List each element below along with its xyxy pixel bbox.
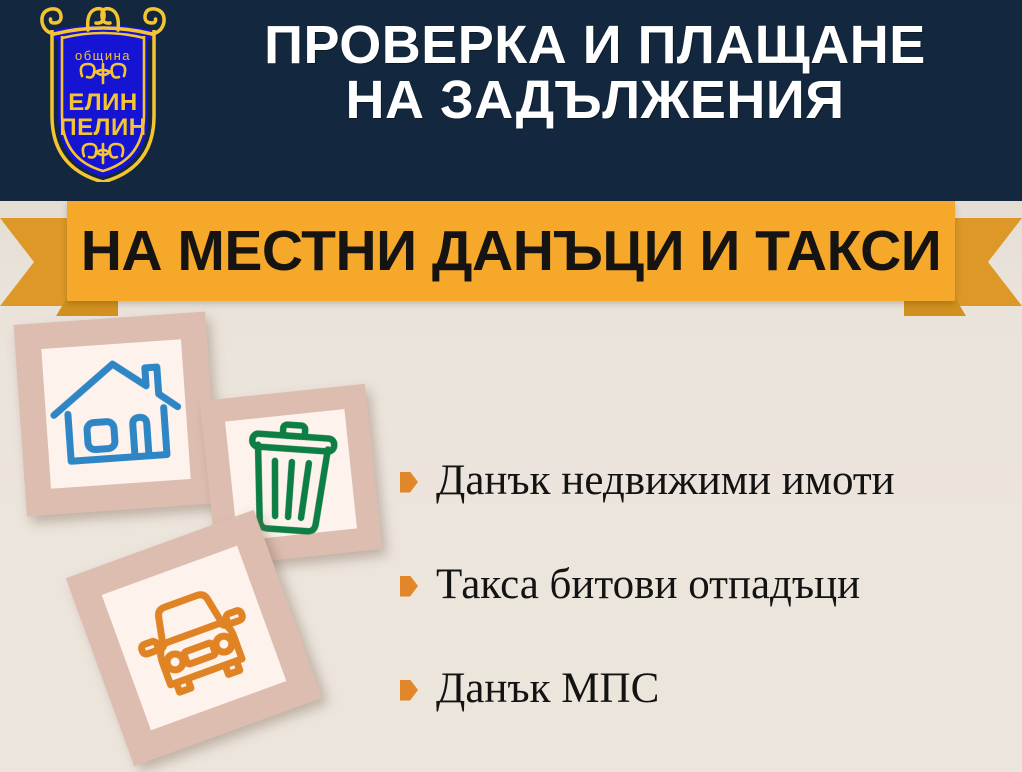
arrow-bullet-icon bbox=[400, 576, 418, 597]
logo-name-line-1: ЕЛИН bbox=[68, 89, 137, 116]
title-line-1: ПРОВЕРКА И ПЛАЩАНЕ bbox=[180, 18, 1010, 73]
list-item-label: Данък недвижими имоти bbox=[436, 459, 895, 502]
list-item-label: Данък МПС bbox=[436, 667, 659, 710]
municipality-logo: община ЕЛИН ПЕЛИН bbox=[38, 4, 168, 182]
ribbon-label: НА МЕСТНИ ДАНЪЦИ И ТАКСИ bbox=[67, 201, 955, 301]
ribbon-banner: НА МЕСТНИ ДАНЪЦИ И ТАКСИ bbox=[0, 196, 1022, 316]
logo-name-line-2: ПЕЛИН bbox=[59, 114, 146, 141]
arrow-bullet-icon bbox=[400, 680, 418, 701]
coat-of-arms-icon: община ЕЛИН ПЕЛИН bbox=[38, 4, 168, 182]
list-item-label: Такса битови отпадъци bbox=[436, 563, 860, 606]
list-item[interactable]: Данък недвижими имоти bbox=[400, 428, 1015, 532]
page-title: ПРОВЕРКА И ПЛАЩАНЕ НА ЗАДЪЛЖЕНИЯ bbox=[180, 18, 1010, 128]
ribbon-main-panel: НА МЕСТНИ ДАНЪЦИ И ТАКСИ bbox=[67, 201, 955, 301]
poster-canvas: община ЕЛИН ПЕЛИН bbox=[0, 0, 1022, 772]
tax-type-list: Данък недвижими имоти Такса битови отпад… bbox=[400, 428, 1015, 740]
title-line-2: НА ЗАДЪЛЖЕНИЯ bbox=[180, 73, 1010, 128]
logo-top-label: община bbox=[75, 48, 131, 63]
list-item[interactable]: Данък МПС bbox=[400, 636, 1015, 740]
list-item[interactable]: Такса битови отпадъци bbox=[400, 532, 1015, 636]
stamp-card-property bbox=[14, 312, 219, 517]
arrow-bullet-icon bbox=[400, 472, 418, 493]
header-bar: община ЕЛИН ПЕЛИН bbox=[0, 0, 1022, 201]
stamp-frame-house bbox=[14, 312, 219, 517]
